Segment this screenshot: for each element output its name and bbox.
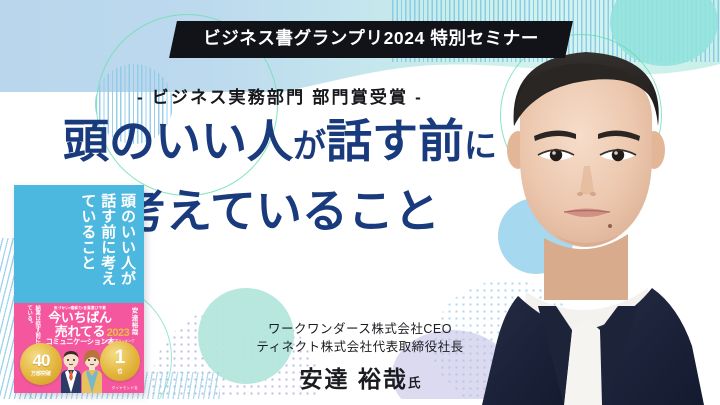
headline-particle-ni: に xyxy=(464,127,497,164)
book-badge-rank-caption: 位 xyxy=(117,368,122,375)
seminar-banner-root: ビジネス書グランプリ2024 特別セミナー - ビジネス実務部門 部門賞受賞 -… xyxy=(0,0,720,405)
book-badge-rank: 1 位 xyxy=(100,341,140,381)
headline-line-1: 頭のいい人が話す前に xyxy=(0,116,560,168)
credit-line-2: ティネクト株式会社代表取締役社長 xyxy=(200,338,520,356)
book-badge-sales-caption: 万部突破 xyxy=(31,370,51,377)
headline-segment-1: 頭のいい人 xyxy=(63,115,293,167)
book-cover: 頭のいい人が話す前に考えていること 結果は話す前に決まっている。 気づかい・理解… xyxy=(14,185,144,393)
ribbon-banner: ビジネス書グランプリ2024 特別セミナー xyxy=(169,21,573,58)
credit-line-1: ワークワンダース株式会社CEO xyxy=(200,320,520,338)
speaker-name-suffix: 氏 xyxy=(408,376,421,390)
book-badge-sales: 40 万部突破 xyxy=(20,343,62,385)
book-cover-title: 頭のいい人が話す前に考えていること xyxy=(78,193,137,301)
book-obi-headline-1: 今いちばん xyxy=(44,311,116,325)
speaker-name: 安達 裕哉氏 xyxy=(200,360,520,394)
ribbon-label: ビジネス書グランプリ2024 特別セミナー xyxy=(203,28,539,50)
speaker-credits: ワークワンダース株式会社CEO ティネクト株式会社代表取締役社長 安達 裕哉氏 xyxy=(200,320,520,394)
speaker-name-text: 安達 裕哉 xyxy=(300,366,408,392)
book-publisher: ダイヤモンド社 xyxy=(112,386,138,391)
headline-segment-2: 話す前 xyxy=(326,115,464,167)
book-badge-rank-number: 1 xyxy=(115,348,126,367)
book-badge-sales-number: 40 xyxy=(33,352,50,369)
award-subtitle: - ビジネス実務部門 部門賞受賞 - xyxy=(0,83,560,108)
headline-particle-ga: が xyxy=(293,127,326,164)
